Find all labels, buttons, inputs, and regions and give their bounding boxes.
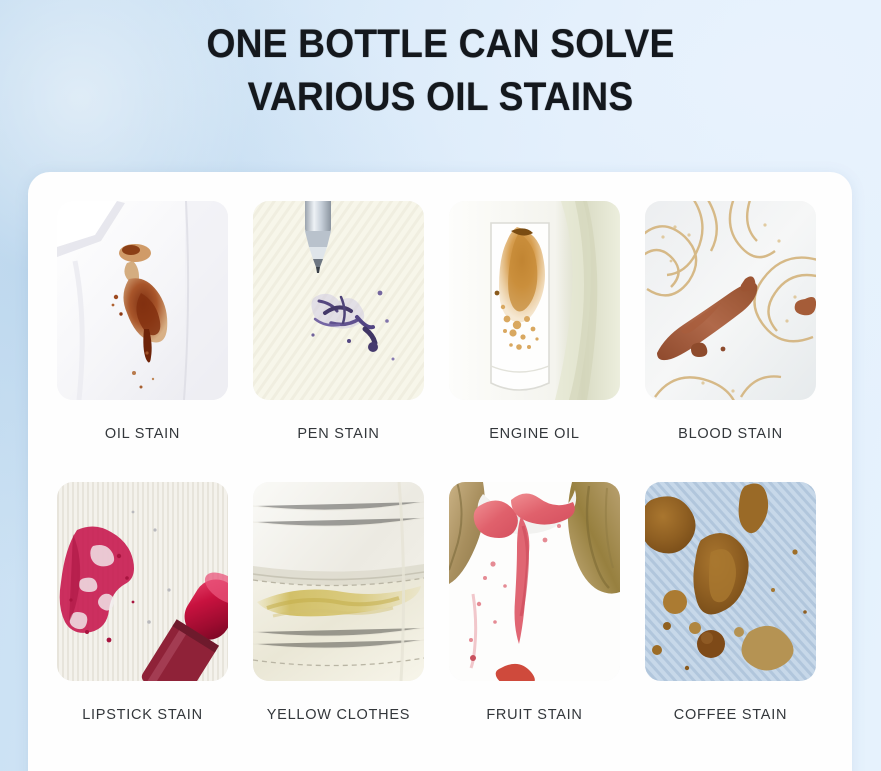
stain-thumbnail-lipstick-stain	[57, 482, 228, 681]
promo-banner: ONE BOTTLE CAN SOLVE VARIOUS OIL STAINS	[0, 0, 881, 771]
page-title: ONE BOTTLE CAN SOLVE VARIOUS OIL STAINS	[31, 18, 850, 124]
stain-thumbnail-yellow-clothes	[253, 482, 424, 681]
stain-thumbnail-blood-stain	[645, 201, 816, 400]
stain-grid-row-1: OIL STAIN	[57, 201, 823, 442]
stain-label-yellow-clothes: YELLOW CLOTHES	[253, 707, 424, 723]
stain-cell-lipstick-stain[interactable]: LIPSTICK STAIN	[57, 482, 228, 723]
stain-label-engine-oil: ENGINE OIL	[449, 426, 620, 442]
blood-stain-illustration	[645, 201, 816, 400]
stain-cell-pen-stain[interactable]: PEN STAIN	[253, 201, 424, 442]
stain-thumbnail-fruit-stain	[449, 482, 620, 681]
pen-stain-illustration	[253, 201, 424, 400]
fruit-stain-illustration	[449, 482, 620, 681]
oil-stain-illustration	[57, 201, 228, 400]
stain-cell-engine-oil[interactable]: ENGINE OIL	[449, 201, 620, 442]
stain-cell-oil-stain[interactable]: OIL STAIN	[57, 201, 228, 442]
stain-thumbnail-engine-oil	[449, 201, 620, 400]
stain-label-fruit-stain: FRUIT STAIN	[449, 707, 620, 723]
stain-cell-blood-stain[interactable]: BLOOD STAIN	[645, 201, 816, 442]
stain-thumbnail-coffee-stain	[645, 482, 816, 681]
stain-grid-row-2: LIPSTICK STAIN	[57, 482, 823, 723]
stain-label-pen-stain: PEN STAIN	[253, 426, 424, 442]
yellow-clothes-illustration	[253, 482, 424, 681]
stain-label-blood-stain: BLOOD STAIN	[645, 426, 816, 442]
stain-grid: OIL STAIN	[57, 201, 823, 723]
stain-cell-yellow-clothes[interactable]: YELLOW CLOTHES	[253, 482, 424, 723]
stain-showcase-card: OIL STAIN	[28, 172, 852, 771]
stain-thumbnail-oil-stain	[57, 201, 228, 400]
stain-thumbnail-pen-stain	[253, 201, 424, 400]
stain-label-oil-stain: OIL STAIN	[57, 426, 228, 442]
lipstick-stain-illustration	[57, 482, 228, 681]
stain-cell-fruit-stain[interactable]: FRUIT STAIN	[449, 482, 620, 723]
stain-label-lipstick-stain: LIPSTICK STAIN	[57, 707, 228, 723]
coffee-stain-illustration	[645, 482, 816, 681]
stain-cell-coffee-stain[interactable]: COFFEE STAIN	[645, 482, 816, 723]
engine-oil-illustration	[449, 201, 620, 400]
stain-label-coffee-stain: COFFEE STAIN	[645, 707, 816, 723]
